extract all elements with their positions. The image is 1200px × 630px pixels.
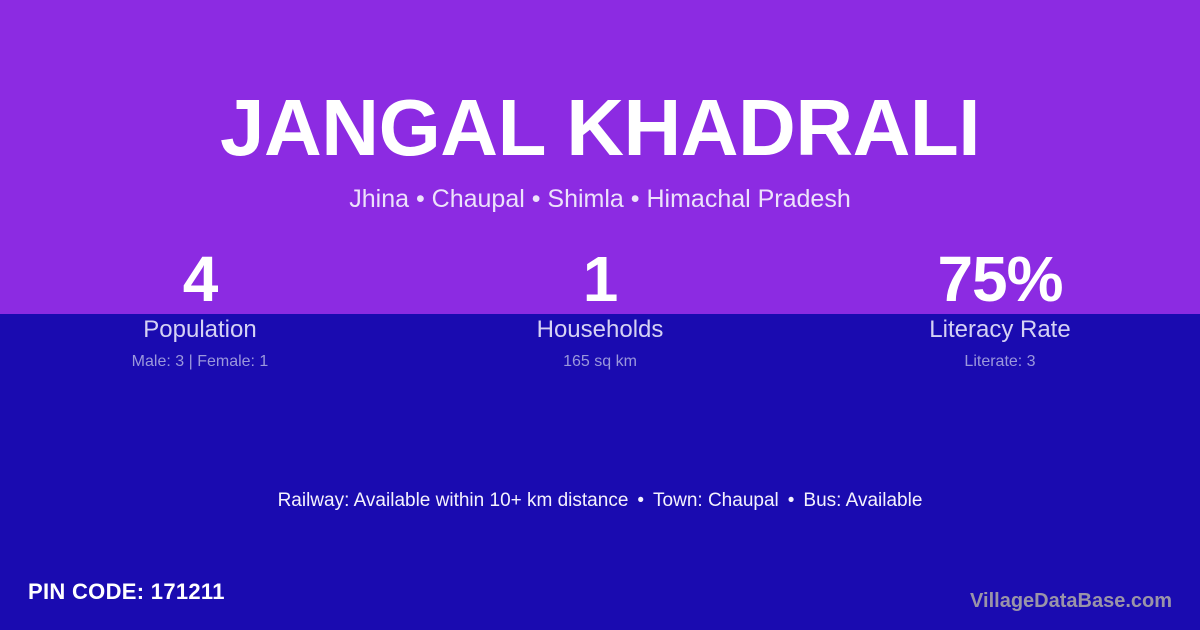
stats-row: 4 Population Male: 3 | Female: 1 1 House…	[0, 246, 1200, 386]
infra-bus: Bus: Available	[803, 490, 922, 511]
stat-literacy-detail: Literate: 3	[800, 352, 1200, 372]
stat-literacy: 75% Literacy Rate Literate: 3	[800, 246, 1200, 386]
infrastructure-summary: Railway: Available within 10+ km distanc…	[0, 488, 1200, 514]
pin-code: PIN CODE: 171211	[28, 578, 225, 606]
stat-literacy-label: Literacy Rate	[800, 316, 1200, 344]
stat-population-value: 4	[0, 246, 400, 312]
stat-households: 1 Households 165 sq km	[400, 246, 800, 386]
page-title: JANGAL KHADRALI	[0, 82, 1200, 174]
stat-population: 4 Population Male: 3 | Female: 1	[0, 246, 400, 386]
bullet-separator-icon: •	[628, 488, 653, 514]
bullet-separator-icon: •	[779, 488, 804, 514]
breadcrumb: Jhina • Chaupal • Shimla • Himachal Prad…	[0, 184, 1200, 214]
site-branding: VillageDataBase.com	[970, 588, 1172, 614]
stat-households-detail: 165 sq km	[400, 352, 800, 372]
stat-population-label: Population	[0, 316, 400, 344]
infra-town: Town: Chaupal	[653, 490, 779, 511]
stat-households-label: Households	[400, 316, 800, 344]
stat-literacy-value: 75%	[800, 246, 1200, 312]
infra-railway: Railway: Available within 10+ km distanc…	[278, 490, 629, 511]
stat-households-value: 1	[400, 246, 800, 312]
stat-population-detail: Male: 3 | Female: 1	[0, 352, 400, 372]
village-info-card: JANGAL KHADRALI Jhina • Chaupal • Shimla…	[0, 0, 1200, 630]
